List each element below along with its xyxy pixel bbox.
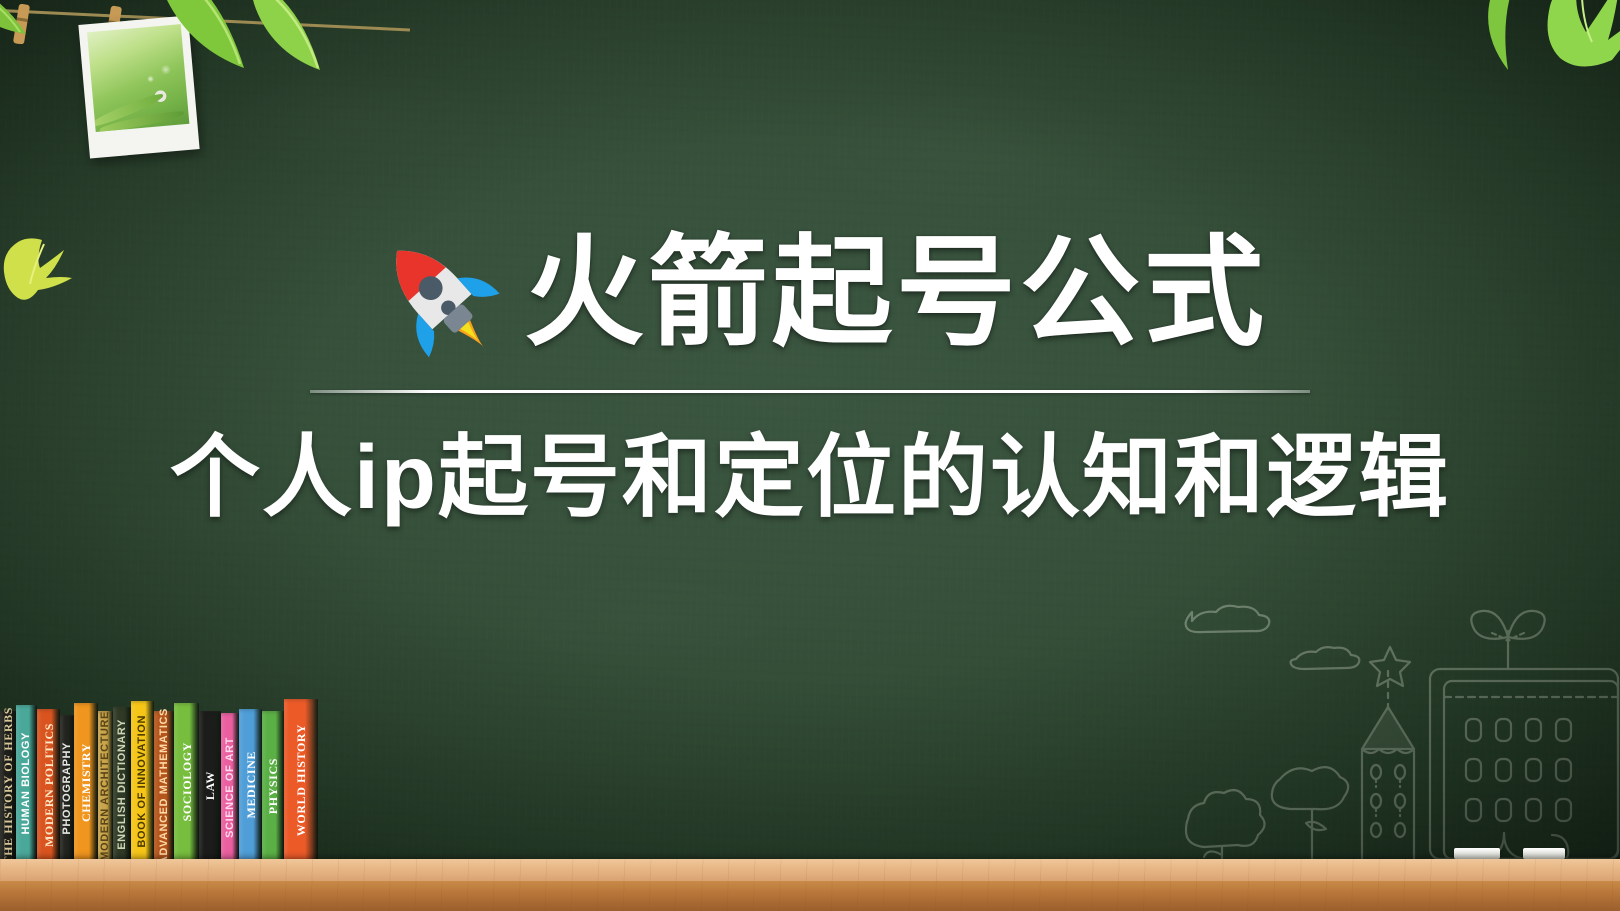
book-spine: Science of Art — [221, 713, 239, 861]
book-spine: Chemistry — [74, 703, 98, 861]
book-spine: Modern Politics — [37, 709, 60, 861]
book-title-text: Medicine — [245, 751, 257, 818]
shelf-wood-grain — [0, 859, 1620, 911]
book-spine: Human Biology — [16, 705, 37, 861]
slide-canvas: 火箭起号公式 个人ip起号和定位的认知和逻辑 The History of He… — [0, 0, 1620, 911]
book-title-text: Human Biology — [21, 732, 32, 835]
book-spine: Modern Architecture — [98, 711, 113, 861]
book-title-text: Photography — [62, 742, 73, 835]
book-spine: Sociology — [174, 703, 199, 861]
book-title-text: Book of Innovation — [137, 715, 148, 848]
book-title-text: Science of Art — [225, 737, 236, 838]
book-title-text: Sociology — [181, 742, 193, 821]
book-title-text: Modern Politics — [43, 723, 55, 847]
book-title-text: Physics — [267, 758, 279, 814]
book-spine: Physics — [262, 711, 284, 861]
title-block: 火箭起号公式 个人ip起号和定位的认知和逻辑 — [0, 228, 1620, 528]
page-subtitle: 个人ip起号和定位的认知和逻辑 — [0, 429, 1620, 528]
bookshelf-books: The History of HerbsHuman BiologyModern … — [0, 701, 318, 861]
polaroid-photo-image — [87, 24, 189, 132]
book-spine: Medicine — [239, 709, 262, 861]
rocket-emoji-icon — [370, 228, 502, 360]
book-title-text: Chemistry — [80, 743, 92, 822]
book-title-text: Modern Architecture — [100, 711, 111, 861]
title-row: 火箭起号公式 — [0, 228, 1620, 360]
book-title-text: World History — [295, 724, 307, 836]
book-title-text: Advanced Mathematics — [159, 708, 170, 864]
book-spine: English Dictionary — [113, 707, 131, 861]
book-title-text: The History of Herbs — [2, 707, 14, 865]
book-spine: Advanced Mathematics — [154, 711, 174, 861]
page-title: 火箭起号公式 — [524, 229, 1268, 359]
title-divider — [310, 390, 1310, 393]
book-spine: The History of Herbs — [0, 711, 16, 861]
wooden-shelf — [0, 859, 1620, 911]
chalk-stick — [1523, 848, 1565, 859]
book-title-text: Law — [204, 771, 216, 800]
hanging-polaroid-photo — [78, 15, 199, 158]
book-title-text: English Dictionary — [117, 719, 128, 850]
book-spine: Photography — [60, 715, 74, 861]
book-spine: World History — [284, 699, 318, 861]
book-spine: Book of Innovation — [131, 701, 154, 861]
book-spine: Law — [199, 711, 221, 861]
chalk-stick — [1454, 848, 1500, 859]
